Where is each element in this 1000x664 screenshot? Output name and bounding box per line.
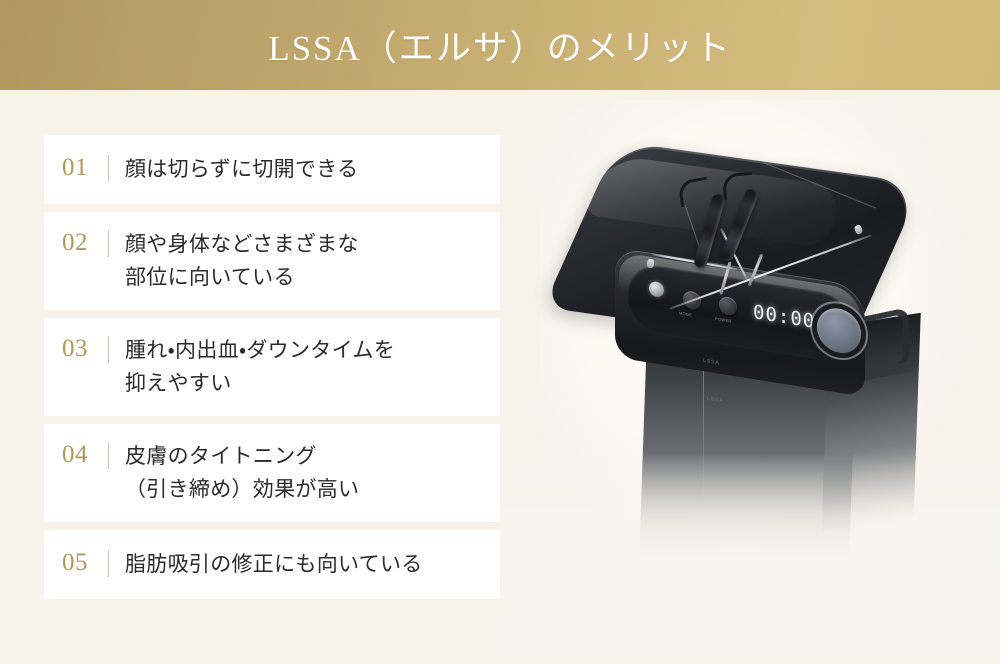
merit-text-line: 脂肪吸引の修正にも向いている (125, 548, 500, 581)
device-image: MODE POWER 00:00 LSSA LSSA (500, 90, 1000, 664)
merit-text: 顔や身体などさまざまな 部位に向いている (125, 228, 500, 294)
list-item: 03 腫れ・内出血・ダウンタイムを 抑えやすい (44, 318, 500, 416)
mode-knob-label: MODE (679, 310, 692, 317)
content-area: 01 顔は切らずに切開できる 02 顔や身体などさまざまな 部位に向いている 0… (0, 90, 1000, 664)
merit-divider (108, 442, 109, 469)
list-item: 05 脂肪吸引の修正にも向いている (44, 530, 500, 599)
merit-text: 腫れ・内出血・ダウンタイムを 抑えやすい (125, 334, 500, 400)
power-icon[interactable] (649, 281, 664, 298)
merit-number: 04 (62, 440, 108, 470)
page-title: LSSA（エルサ）のメリット (268, 20, 732, 71)
list-item: 04 皮膚のタイトニング （引き締め）効果が高い (44, 424, 500, 522)
merit-number: 01 (62, 153, 108, 183)
merit-text-line: 顔や身体などさまざまな (125, 228, 500, 261)
merit-text: 皮膚のタイトニング （引き締め）効果が高い (125, 440, 500, 506)
merit-number: 03 (62, 334, 108, 364)
merit-text: 脂肪吸引の修正にも向いている (125, 548, 500, 581)
merit-list: 01 顔は切らずに切開できる 02 顔や身体などさまざまな 部位に向いている 0… (44, 135, 500, 607)
list-item: 01 顔は切らずに切開できる (44, 135, 500, 204)
merit-text-line: 部位に向いている (125, 261, 500, 294)
merit-text-line: 抑えやすい (125, 367, 500, 400)
merit-divider (108, 230, 109, 257)
merit-text-line: 腫れ・内出血・ダウンタイムを (125, 334, 500, 367)
merit-divider (108, 336, 109, 363)
merit-number: 05 (62, 548, 108, 578)
timer-display: 00:00 (753, 301, 815, 333)
merit-number: 02 (62, 228, 108, 258)
power-knob-label: POWER (715, 316, 732, 324)
merit-text-line: （引き締め）効果が高い (125, 473, 500, 506)
list-item: 02 顔や身体などさまざまな 部位に向いている (44, 212, 500, 310)
merit-divider (108, 155, 109, 182)
image-fade-overlay (500, 454, 1000, 664)
merit-text: 顔は切らずに切開できる (125, 153, 500, 186)
power-knob[interactable] (719, 296, 737, 317)
merit-text-line: 顔は切らずに切開できる (125, 153, 500, 186)
merit-divider (108, 550, 109, 577)
merit-text-line: 皮膚のタイトニング (125, 440, 500, 473)
page-header: LSSA（エルサ）のメリット (0, 0, 1000, 90)
